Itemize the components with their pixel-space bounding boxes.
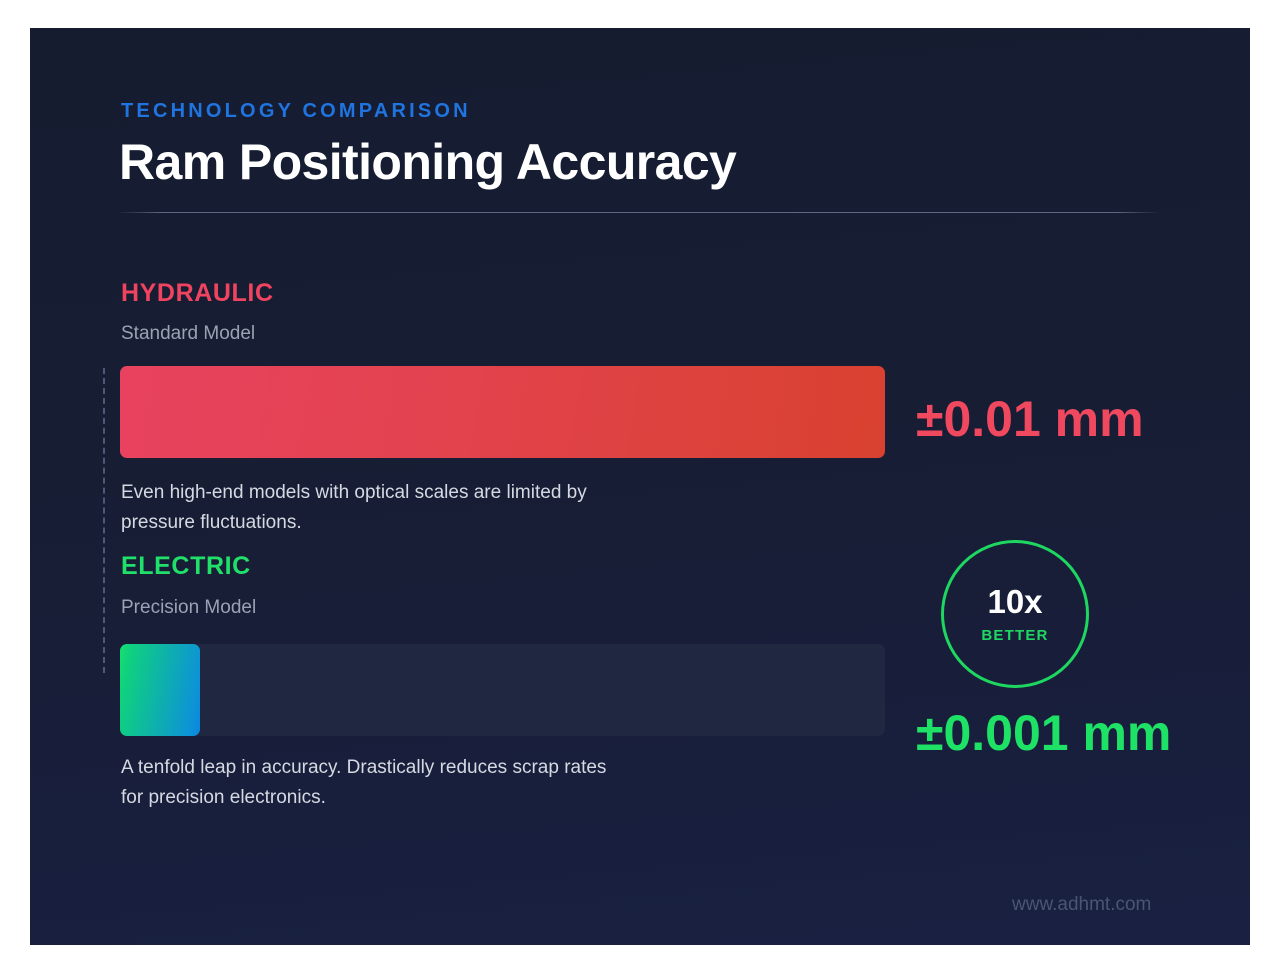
hydraulic-bar bbox=[120, 366, 885, 458]
electric-label: ELECTRIC bbox=[121, 552, 251, 581]
dashed-connector-line bbox=[103, 368, 105, 673]
electric-note: A tenfold leap in accuracy. Drastically … bbox=[121, 753, 621, 813]
electric-bar-track bbox=[120, 644, 885, 736]
badge-caption: BETTER bbox=[981, 627, 1048, 644]
electric-bar-fill bbox=[120, 644, 200, 736]
hydraulic-label: HYDRAULIC bbox=[121, 279, 274, 308]
page-title: Ram Positioning Accuracy bbox=[119, 133, 736, 191]
infographic-canvas: TECHNOLOGY COMPARISON Ram Positioning Ac… bbox=[30, 28, 1250, 945]
electric-value: ±0.001 mm bbox=[916, 704, 1171, 762]
hydraulic-sublabel: Standard Model bbox=[121, 323, 255, 345]
watermark: www.adhmt.com bbox=[1012, 894, 1151, 916]
badge-multiplier: 10x bbox=[987, 585, 1042, 618]
eyebrow-label: TECHNOLOGY COMPARISON bbox=[121, 100, 471, 123]
hydraulic-value: ±0.01 mm bbox=[916, 390, 1144, 448]
header-divider bbox=[120, 212, 1158, 213]
electric-sublabel: Precision Model bbox=[121, 597, 256, 619]
hydraulic-note: Even high-end models with optical scales… bbox=[121, 478, 591, 538]
improvement-badge: 10x BETTER bbox=[941, 540, 1089, 688]
